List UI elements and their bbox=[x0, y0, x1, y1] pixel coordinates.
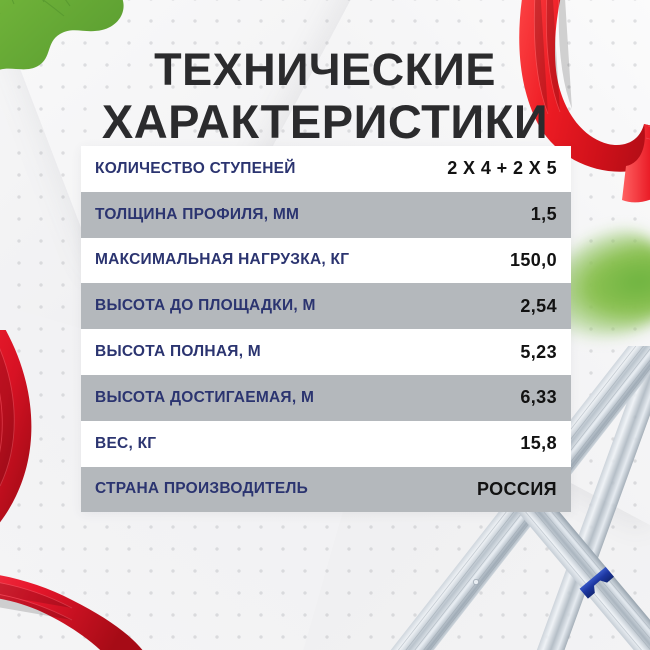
spec-value: 6,33 bbox=[520, 387, 557, 408]
spec-label: ВЫСОТА ПОЛНАЯ, М bbox=[95, 343, 261, 361]
table-row: ВЫСОТА ДОСТИГАЕМАЯ, М6,33 bbox=[81, 375, 571, 421]
spec-value: РОССИЯ bbox=[477, 479, 557, 500]
spec-value: 2 X 4 + 2 X 5 bbox=[447, 158, 557, 179]
page-title: ТЕХНИЧЕСКИЕ ХАРАКТЕРИСТИКИ bbox=[0, 44, 650, 148]
spec-value: 5,23 bbox=[520, 342, 557, 363]
table-row: ВЫСОТА ПОЛНАЯ, М5,23 bbox=[81, 329, 571, 375]
table-row: ВЕС, КГ15,8 bbox=[81, 421, 571, 467]
spec-value: 2,54 bbox=[520, 296, 557, 317]
spec-label: МАКСИМАЛЬНАЯ НАГРУЗКА, КГ bbox=[95, 251, 349, 269]
spec-label: ВЫСОТА ДО ПЛОЩАДКИ, М bbox=[95, 297, 316, 315]
page-title-line-1: ТЕХНИЧЕСКИЕ bbox=[0, 44, 650, 96]
table-row: МАКСИМАЛЬНАЯ НАГРУЗКА, КГ150,0 bbox=[81, 238, 571, 284]
table-row: СТРАНА ПРОИЗВОДИТЕЛЬРОССИЯ bbox=[81, 467, 571, 513]
spec-value: 1,5 bbox=[531, 204, 557, 225]
page-title-line-2: ХАРАКТЕРИСТИКИ bbox=[0, 96, 650, 148]
table-row: КОЛИЧЕСТВО СТУПЕНЕЙ2 X 4 + 2 X 5 bbox=[81, 146, 571, 192]
spec-label: ВЕС, КГ bbox=[95, 435, 156, 453]
spec-label: ТОЛЩИНА ПРОФИЛЯ, ММ bbox=[95, 206, 299, 224]
spec-label: СТРАНА ПРОИЗВОДИТЕЛЬ bbox=[95, 480, 308, 498]
table-row: ТОЛЩИНА ПРОФИЛЯ, ММ1,5 bbox=[81, 192, 571, 238]
poster-canvas: ТЕХНИЧЕСКИЕ ХАРАКТЕРИСТИКИ КОЛИЧЕСТВО СТ… bbox=[0, 0, 650, 650]
specifications-table: КОЛИЧЕСТВО СТУПЕНЕЙ2 X 4 + 2 X 5ТОЛЩИНА … bbox=[81, 146, 571, 512]
spec-label: ВЫСОТА ДОСТИГАЕМАЯ, М bbox=[95, 389, 314, 407]
spec-label: КОЛИЧЕСТВО СТУПЕНЕЙ bbox=[95, 160, 296, 178]
spec-value: 150,0 bbox=[510, 250, 557, 271]
table-row: ВЫСОТА ДО ПЛОЩАДКИ, М2,54 bbox=[81, 283, 571, 329]
spec-value: 15,8 bbox=[520, 433, 557, 454]
